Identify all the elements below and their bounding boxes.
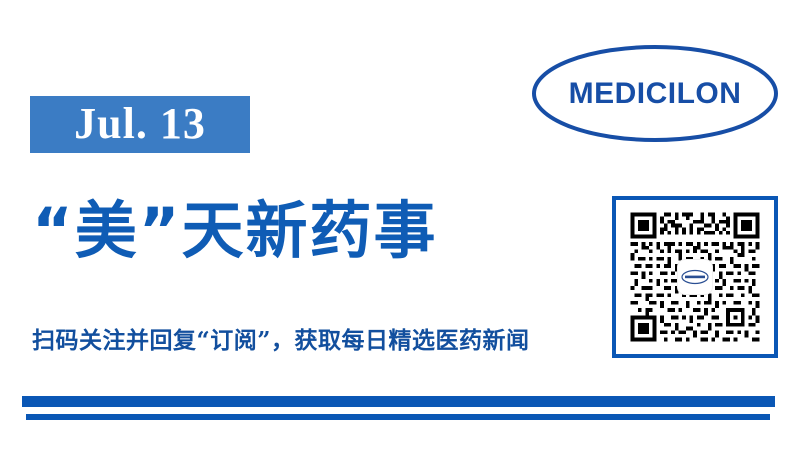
divider-thick xyxy=(22,396,775,407)
medicilon-oval-icon xyxy=(681,269,709,285)
date-badge: Jul. 13 xyxy=(30,96,250,153)
poster-canvas: Jul. 13 MEDICILON “美”天新药事 扫码关注并回复“订阅”，获取… xyxy=(0,0,800,468)
divider-thin xyxy=(26,414,770,420)
qr-code-frame[interactable] xyxy=(612,196,778,358)
page-title: “美”天新药事 xyxy=(32,188,592,274)
subtitle-text: 扫码关注并回复“订阅”，获取每日精选医药新闻 xyxy=(32,324,592,358)
qr-code-canvas xyxy=(625,209,765,345)
date-badge-label: Jul. 13 xyxy=(74,102,206,146)
brand-logo: MEDICILON xyxy=(531,44,779,143)
brand-logo-label: MEDICILON xyxy=(531,44,779,143)
qr-center-logo xyxy=(678,260,712,294)
